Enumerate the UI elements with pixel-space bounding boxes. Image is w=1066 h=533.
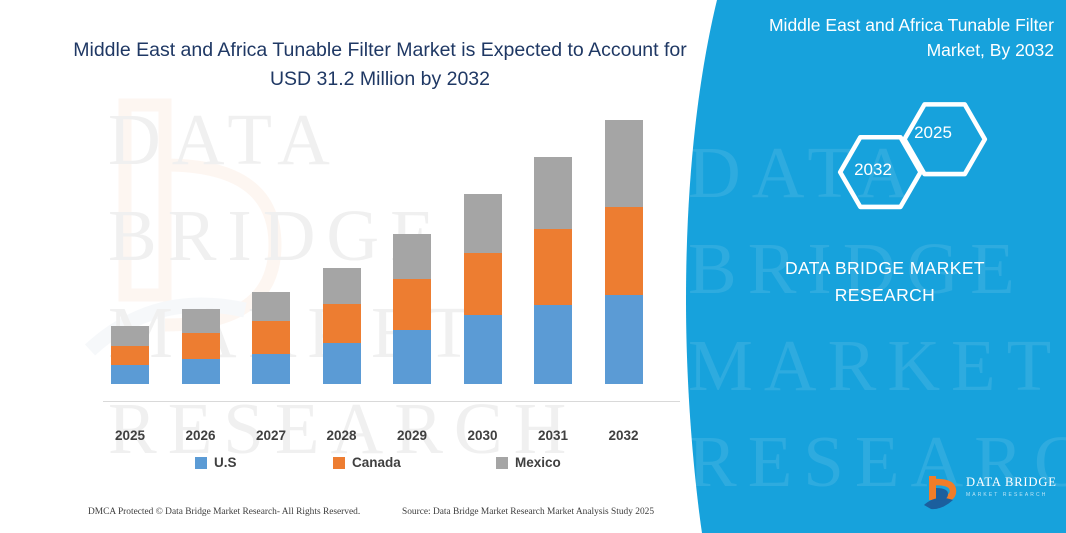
bar-segment-us-2029 <box>393 330 431 384</box>
bar-segment-us-2027 <box>252 354 290 384</box>
panel-brand-name: DATA BRIDGE MARKET RESEARCH <box>760 255 1010 309</box>
legend-label-canada: Canada <box>352 455 401 470</box>
databridge-logo-mark-icon <box>922 474 962 512</box>
legend-swatch-mexico <box>496 457 508 469</box>
hexagon-label-2032: 2032 <box>838 160 908 180</box>
bar-segment-us-2031 <box>534 305 572 384</box>
footer-copyright: DMCA Protected © Data Bridge Market Rese… <box>88 507 360 517</box>
x-axis-label-2027: 2027 <box>236 428 306 443</box>
panel-title: Middle East and Africa Tunable Filter Ma… <box>758 13 1054 63</box>
bar-segment-canada-2029 <box>393 279 431 330</box>
chart-legend: U.SCanadaMexico <box>95 455 680 477</box>
legend-item-us[interactable]: U.S <box>195 455 237 470</box>
bar-segment-mexico-2032 <box>605 120 643 207</box>
bar-segment-canada-2026 <box>182 333 220 359</box>
bar-segment-us-2030 <box>464 315 502 384</box>
hexagon-label-2025: 2025 <box>898 123 968 143</box>
panel-content: DATA BRIDGE MARKET RESEARCH Middle East … <box>700 0 1066 533</box>
legend-swatch-us <box>195 457 207 469</box>
hexagon-outlines-icon <box>700 95 1066 215</box>
logo-main-text: DATA BRIDGE <box>966 476 1054 489</box>
bar-segment-canada-2027 <box>252 321 290 353</box>
legend-swatch-canada <box>333 457 345 469</box>
bar-segment-mexico-2025 <box>111 326 149 345</box>
legend-item-canada[interactable]: Canada <box>333 455 401 470</box>
page-title: Middle East and Africa Tunable Filter Ma… <box>60 36 700 93</box>
legend-label-mexico: Mexico <box>515 455 561 470</box>
logo-sub-text: MARKET RESEARCH <box>966 493 1054 498</box>
x-axis-label-2025: 2025 <box>95 428 165 443</box>
bar-segment-mexico-2027 <box>252 292 290 322</box>
bar-segment-canada-2032 <box>605 207 643 295</box>
bar-2025 <box>111 326 149 384</box>
databridge-logo-text: DATA BRIDGE MARKET RESEARCH <box>966 476 1054 498</box>
hexagon-group: 2025 2032 <box>700 95 1066 215</box>
databridge-logo: DATA BRIDGE MARKET RESEARCH <box>922 472 1054 514</box>
legend-label-us: U.S <box>214 455 237 470</box>
bar-segment-canada-2025 <box>111 346 149 365</box>
x-axis-labels: 20252026202720282029203020312032 <box>95 428 680 450</box>
x-axis-label-2029: 2029 <box>377 428 447 443</box>
bar-2031 <box>534 157 572 384</box>
bar-segment-mexico-2026 <box>182 309 220 334</box>
x-axis-label-2028: 2028 <box>307 428 377 443</box>
bar-segment-us-2028 <box>323 343 361 384</box>
bar-segment-mexico-2030 <box>464 194 502 253</box>
x-axis-label-2026: 2026 <box>166 428 236 443</box>
infographic-canvas: DATA BRIDGE MARKET RESEARCH Middle East … <box>0 0 1066 533</box>
bar-segment-us-2032 <box>605 295 643 384</box>
bar-segment-us-2025 <box>111 365 149 384</box>
bar-2029 <box>393 234 431 384</box>
bar-segment-canada-2030 <box>464 253 502 316</box>
legend-item-mexico[interactable]: Mexico <box>496 455 561 470</box>
bar-segment-mexico-2029 <box>393 234 431 279</box>
chart-plot-area <box>95 130 680 402</box>
footer-source: Source: Data Bridge Market Research Mark… <box>402 507 654 517</box>
bar-2026 <box>182 309 220 384</box>
x-axis-label-2030: 2030 <box>448 428 518 443</box>
bar-2032 <box>605 120 643 384</box>
bar-segment-canada-2028 <box>323 304 361 343</box>
bar-segment-mexico-2031 <box>534 157 572 229</box>
bar-segment-us-2026 <box>182 359 220 384</box>
footer: DMCA Protected © Data Bridge Market Rese… <box>0 507 700 527</box>
bar-segment-canada-2031 <box>534 229 572 305</box>
stacked-bar-chart: 20252026202720282029203020312032 <box>95 130 680 420</box>
bar-segment-mexico-2028 <box>323 268 361 304</box>
x-axis-line <box>103 401 680 402</box>
bar-2028 <box>323 268 361 384</box>
bar-2030 <box>464 194 502 384</box>
x-axis-label-2031: 2031 <box>518 428 588 443</box>
bar-2027 <box>252 292 290 384</box>
x-axis-label-2032: 2032 <box>589 428 659 443</box>
